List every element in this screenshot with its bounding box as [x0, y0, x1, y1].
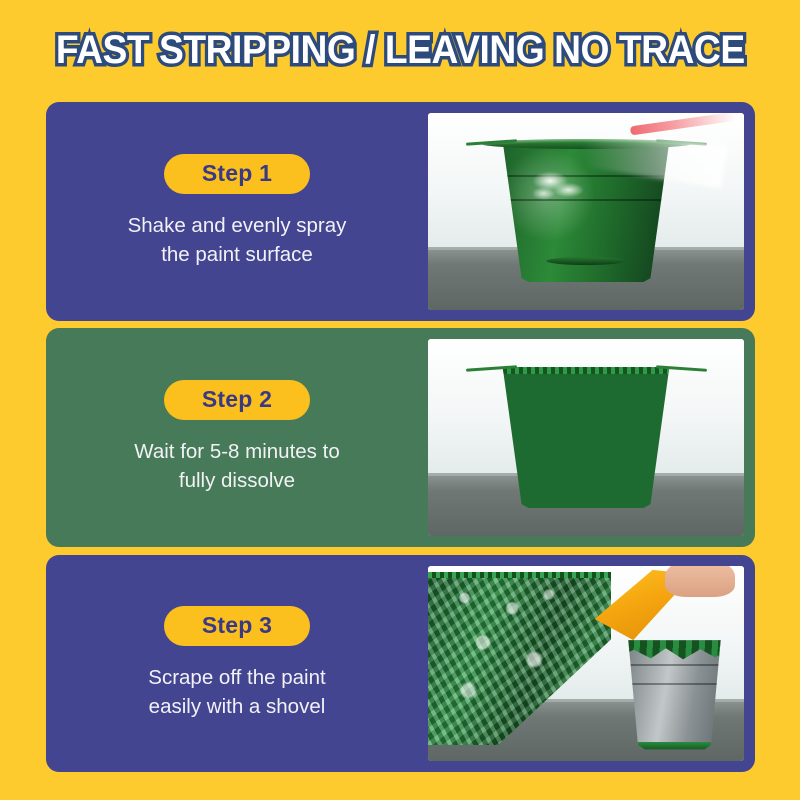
bubbled-paint-bucket [491, 367, 681, 509]
step-card-3: Step 3 Scrape off the paint easily with … [46, 555, 755, 772]
bubbled-rim-edge [491, 367, 681, 374]
step-3-text-block: Step 3 Scrape off the paint easily with … [46, 555, 428, 772]
step-1-caption-line-1: Shake and evenly spray [128, 214, 347, 237]
step-2-text-block: Step 2 Wait for 5-8 minutes to fully dis… [46, 328, 428, 547]
step-2-photo [428, 339, 744, 536]
page-title: FAST STRIPPING / LEAVING NO TRACE [56, 28, 745, 73]
header-banner: FAST STRIPPING / LEAVING NO TRACE [0, 0, 800, 100]
step-1-caption-line-2: the paint surface [161, 243, 313, 266]
bare-metal-bucket [621, 640, 728, 749]
paint-residue-top [621, 640, 728, 664]
spray-splat [533, 169, 590, 203]
photo-3-scene [428, 566, 744, 761]
step-3-caption-line-1: Scrape off the paint [148, 666, 325, 689]
step-1-caption: Shake and evenly spray the paint surface [128, 211, 347, 269]
photo-1-scene [428, 113, 744, 310]
step-card-1: Step 1 Shake and evenly spray the paint … [46, 102, 755, 321]
photo-2-scene [428, 339, 744, 536]
promo-page: FAST STRIPPING / LEAVING NO TRACE Step 1… [0, 0, 800, 800]
step-3-caption: Scrape off the paint easily with a shove… [148, 663, 325, 721]
step-1-text-block: Step 1 Shake and evenly spray the paint … [46, 102, 428, 321]
step-2-caption: Wait for 5-8 minutes to fully dissolve [134, 437, 339, 495]
step-2-badge: Step 2 [164, 380, 310, 420]
step-1-badge: Step 1 [164, 154, 310, 194]
step-3-photo [428, 566, 744, 761]
bare-bucket-rings [621, 664, 728, 684]
hand [665, 566, 735, 597]
step-3-caption-line-2: easily with a shovel [149, 695, 326, 718]
step-2-caption-line-2: fully dissolve [179, 469, 295, 492]
step-1-photo [428, 113, 744, 310]
step-3-badge: Step 3 [164, 606, 310, 646]
step-2-caption-line-1: Wait for 5-8 minutes to [134, 440, 339, 463]
peeling-sheet-top-edge [428, 572, 611, 578]
bucket-base [546, 257, 626, 265]
step-card-2: Step 2 Wait for 5-8 minutes to fully dis… [46, 328, 755, 547]
